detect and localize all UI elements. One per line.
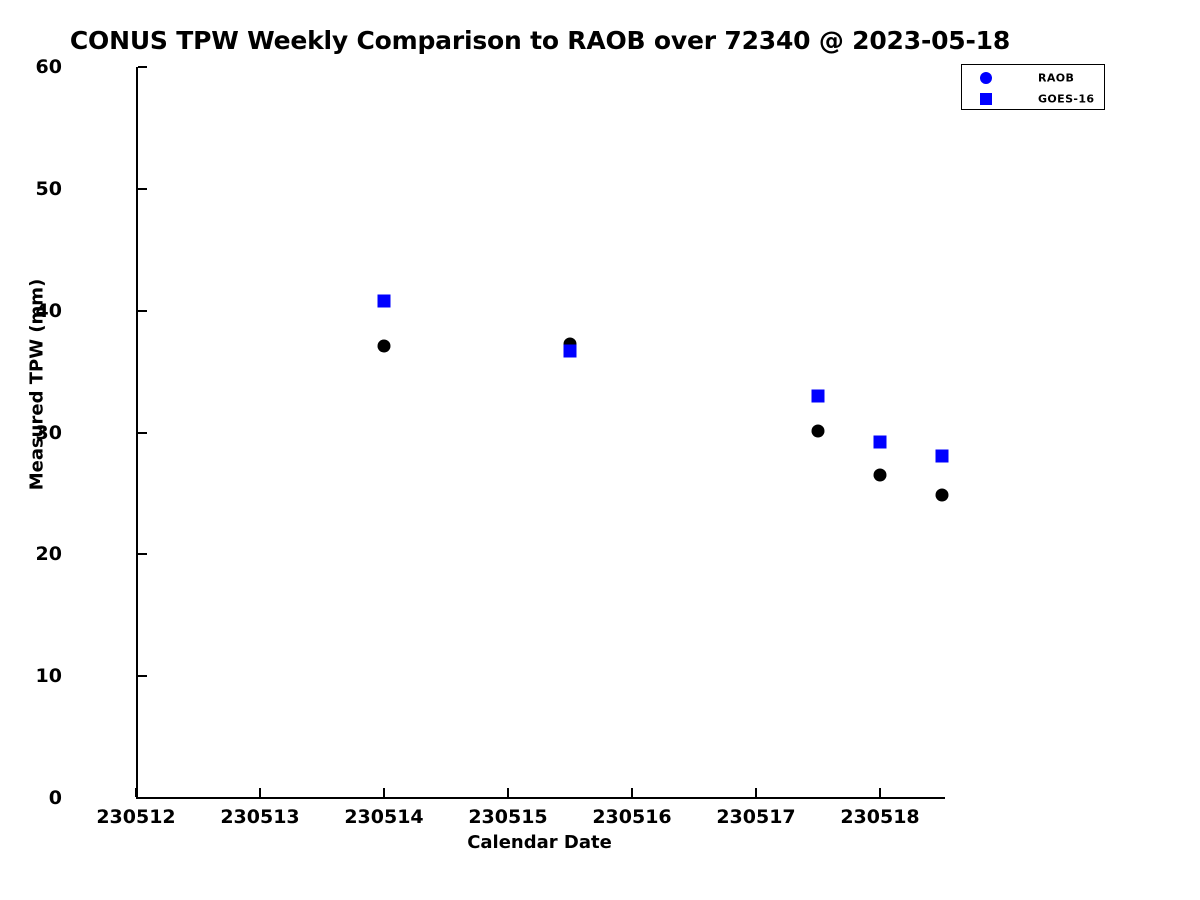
y-axis-label: Measured TPW (mm) — [27, 185, 48, 585]
y-tick-label: 0 — [49, 787, 62, 809]
chart-title: CONUS TPW Weekly Comparison to RAOB over… — [0, 26, 1080, 55]
chart-legend: RAOBGOES-16 — [961, 64, 1105, 110]
data-point-goes-16 — [564, 344, 577, 357]
x-tick-label: 230514 — [344, 806, 423, 828]
x-axis-label: Calendar Date — [136, 832, 943, 853]
legend-label: RAOB — [1038, 71, 1074, 84]
y-tick-label: 10 — [36, 665, 62, 687]
data-point-raob — [874, 469, 887, 482]
legend-item-raob[interactable]: RAOB — [962, 67, 1104, 88]
data-point-goes-16 — [812, 389, 825, 402]
data-point-raob — [936, 488, 949, 501]
data-point-raob — [812, 425, 825, 438]
chart-figure: CONUS TPW Weekly Comparison to RAOB over… — [0, 0, 1200, 900]
legend-label: GOES-16 — [1038, 92, 1095, 105]
legend-circle-icon — [980, 72, 992, 84]
y-tick-label: 60 — [36, 56, 62, 78]
plot-area — [136, 67, 943, 798]
x-tick-label: 230515 — [468, 806, 547, 828]
x-tick-label: 230513 — [220, 806, 299, 828]
legend-item-goes-16[interactable]: GOES-16 — [962, 88, 1104, 109]
legend-square-icon — [980, 93, 992, 105]
x-tick-label: 230512 — [96, 806, 175, 828]
x-tick-label: 230518 — [840, 806, 919, 828]
x-tick-label: 230516 — [592, 806, 671, 828]
data-point-goes-16 — [378, 294, 391, 307]
data-point-goes-16 — [874, 436, 887, 449]
data-point-goes-16 — [936, 449, 949, 462]
x-tick-label: 230517 — [716, 806, 795, 828]
data-point-raob — [378, 339, 391, 352]
